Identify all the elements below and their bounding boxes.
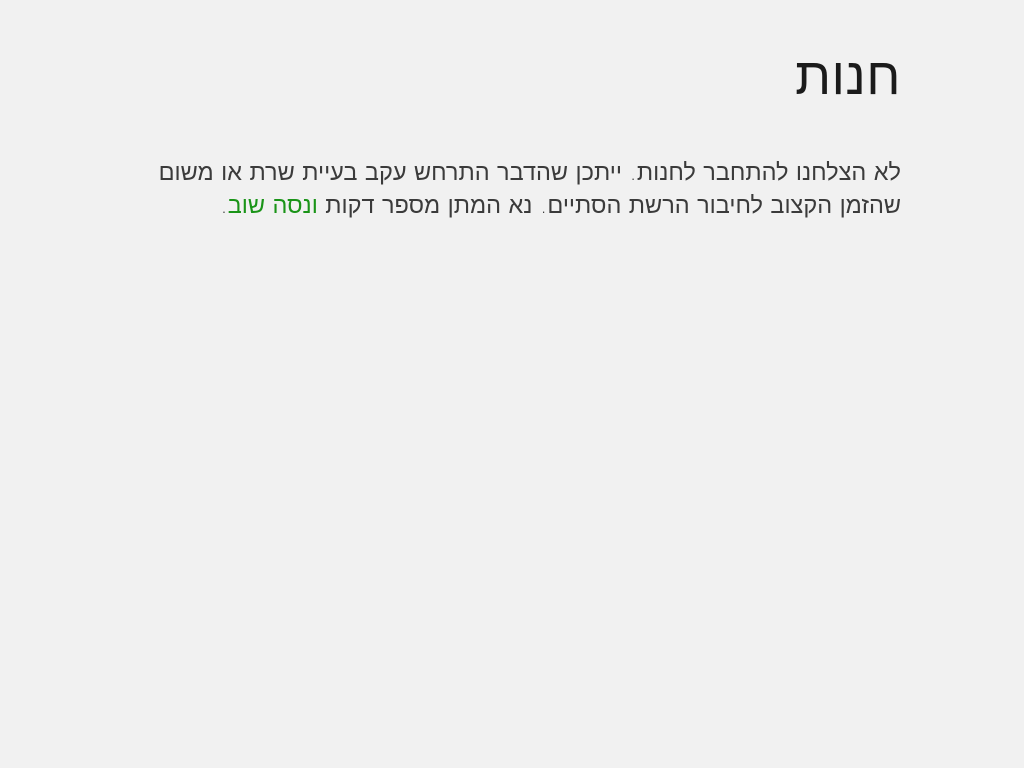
page-title: חנות [95,0,901,108]
empty-content-area [0,280,1024,768]
content-container: חנות לא הצלחנו להתחבר לחנות. ייתכן שהדבר… [0,0,1024,222]
error-message: לא הצלחנו להתחבר לחנות. ייתכן שהדבר התרח… [95,108,901,222]
retry-link[interactable]: ונסה שוב [228,191,318,219]
error-message-text-after-link: . [220,191,227,219]
store-error-page: חנות לא הצלחנו להתחבר לחנות. ייתכן שהדבר… [0,0,1024,768]
